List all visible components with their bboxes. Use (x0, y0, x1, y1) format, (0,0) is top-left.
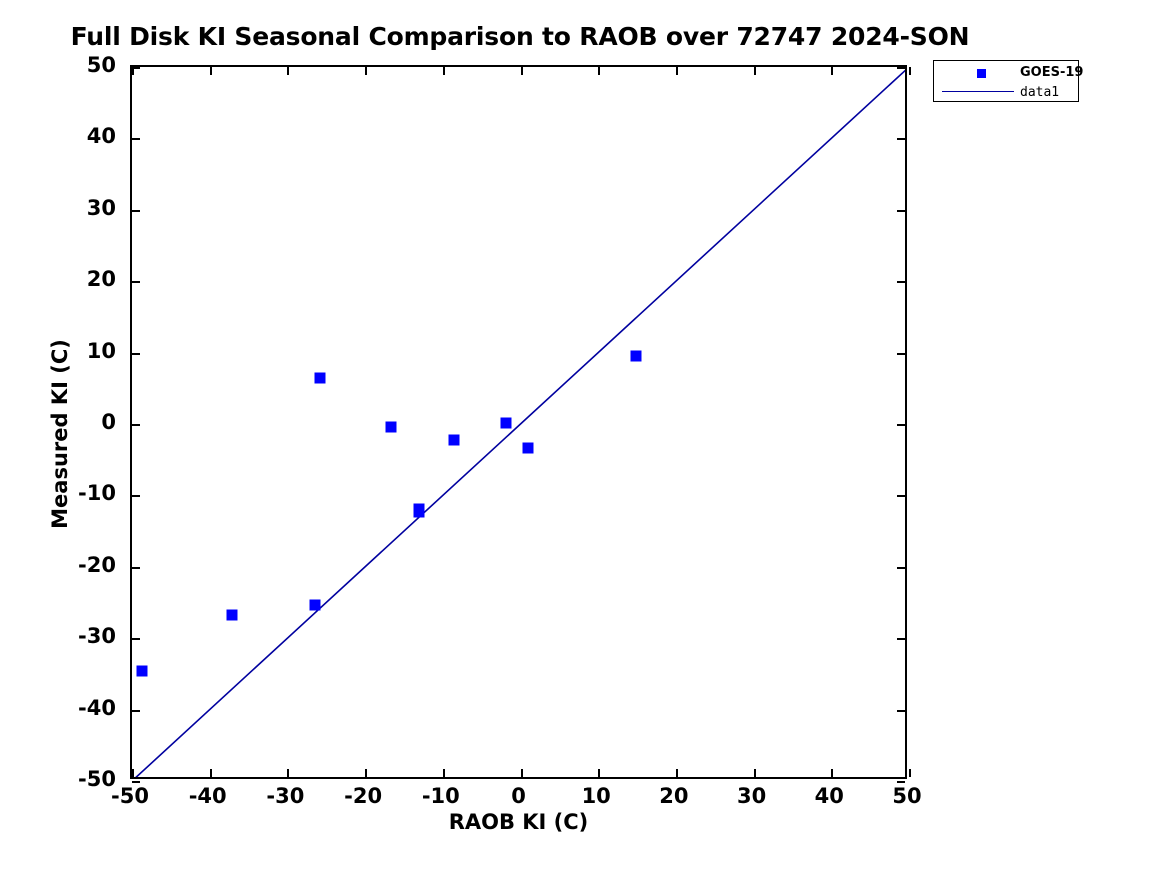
legend-line-icon (942, 91, 1014, 92)
y-axis-tick-right (897, 424, 905, 426)
x-axis-tick (287, 769, 289, 777)
x-tick-label: -10 (422, 784, 460, 808)
y-tick-label: 40 (0, 124, 116, 148)
data-point-marker (631, 351, 642, 362)
x-axis-tick (365, 769, 367, 777)
y-axis-tick-right (897, 781, 905, 783)
y-axis-tick-right (897, 495, 905, 497)
data-point-marker (413, 506, 424, 517)
x-axis-tick (132, 769, 134, 777)
y-axis-tick-right (897, 210, 905, 212)
x-axis-tick (210, 769, 212, 777)
y-axis-tick-right (897, 281, 905, 283)
y-axis-tick-right (897, 710, 905, 712)
y-axis-tick (132, 424, 140, 426)
y-axis-label: Measured KI (C) (48, 234, 72, 634)
x-axis-tick (598, 769, 600, 777)
y-axis-tick (132, 67, 140, 69)
y-axis-tick-right (897, 567, 905, 569)
x-tick-label: 0 (511, 784, 526, 808)
y-axis-tick (132, 567, 140, 569)
legend-entry-data1[interactable]: data1 (934, 82, 1078, 101)
y-axis-tick-right (897, 67, 905, 69)
plot-inner (132, 67, 905, 777)
identity-line (132, 67, 905, 777)
y-axis-tick (132, 638, 140, 640)
data-point-marker (227, 609, 238, 620)
x-axis-tick-top (287, 67, 289, 75)
x-axis-tick (909, 769, 911, 777)
legend-entry-goes19[interactable]: GOES-19 (934, 63, 1078, 82)
y-axis-tick (132, 138, 140, 140)
data-point-marker (523, 443, 534, 454)
x-axis-tick-top (365, 67, 367, 75)
x-axis-tick (676, 769, 678, 777)
y-tick-label: -40 (0, 696, 116, 720)
x-tick-label: -20 (344, 784, 382, 808)
x-axis-tick-top (831, 67, 833, 75)
x-axis-tick (831, 769, 833, 777)
y-axis-tick (132, 495, 140, 497)
x-axis-tick-top (909, 67, 911, 75)
legend: GOES-19 data1 (933, 60, 1079, 102)
x-axis-tick-top (210, 67, 212, 75)
x-tick-label: 10 (582, 784, 611, 808)
y-axis-tick-right (897, 638, 905, 640)
page-title: Full Disk KI Seasonal Comparison to RAOB… (0, 22, 1040, 51)
data-line-layer (132, 67, 905, 777)
chart-page: Full Disk KI Seasonal Comparison to RAOB… (0, 0, 1167, 875)
x-tick-label: 40 (815, 784, 844, 808)
x-axis-tick-top (443, 67, 445, 75)
x-tick-label: -30 (266, 784, 304, 808)
x-axis-label: RAOB KI (C) (130, 810, 907, 834)
x-axis-tick (443, 769, 445, 777)
data-point-marker (137, 666, 148, 677)
x-tick-label: 30 (737, 784, 766, 808)
data-point-marker (315, 372, 326, 383)
legend-label-data1: data1 (1020, 85, 1059, 100)
legend-label-goes19: GOES-19 (1020, 65, 1083, 80)
x-axis-tick (521, 769, 523, 777)
legend-square-marker-icon (977, 69, 986, 78)
y-tick-label: -50 (0, 767, 116, 791)
x-tick-label: 20 (659, 784, 688, 808)
data-point-marker (310, 600, 321, 611)
plot-area (130, 65, 907, 779)
x-tick-label: -40 (189, 784, 227, 808)
y-axis-tick (132, 710, 140, 712)
x-axis-tick-top (676, 67, 678, 75)
data-point-marker (385, 421, 396, 432)
y-axis-tick-right (897, 138, 905, 140)
y-axis-tick (132, 210, 140, 212)
data-point-marker (500, 418, 511, 429)
x-axis-tick-top (598, 67, 600, 75)
y-axis-tick-right (897, 353, 905, 355)
y-axis-tick (132, 353, 140, 355)
y-axis-tick (132, 281, 140, 283)
y-axis-tick (132, 781, 140, 783)
data-point-marker (448, 434, 459, 445)
x-axis-tick (754, 769, 756, 777)
x-tick-label: -50 (111, 784, 149, 808)
y-tick-label: 30 (0, 196, 116, 220)
y-tick-label: 50 (0, 53, 116, 77)
x-axis-tick-top (521, 67, 523, 75)
x-axis-tick-top (754, 67, 756, 75)
x-tick-label: 50 (892, 784, 921, 808)
